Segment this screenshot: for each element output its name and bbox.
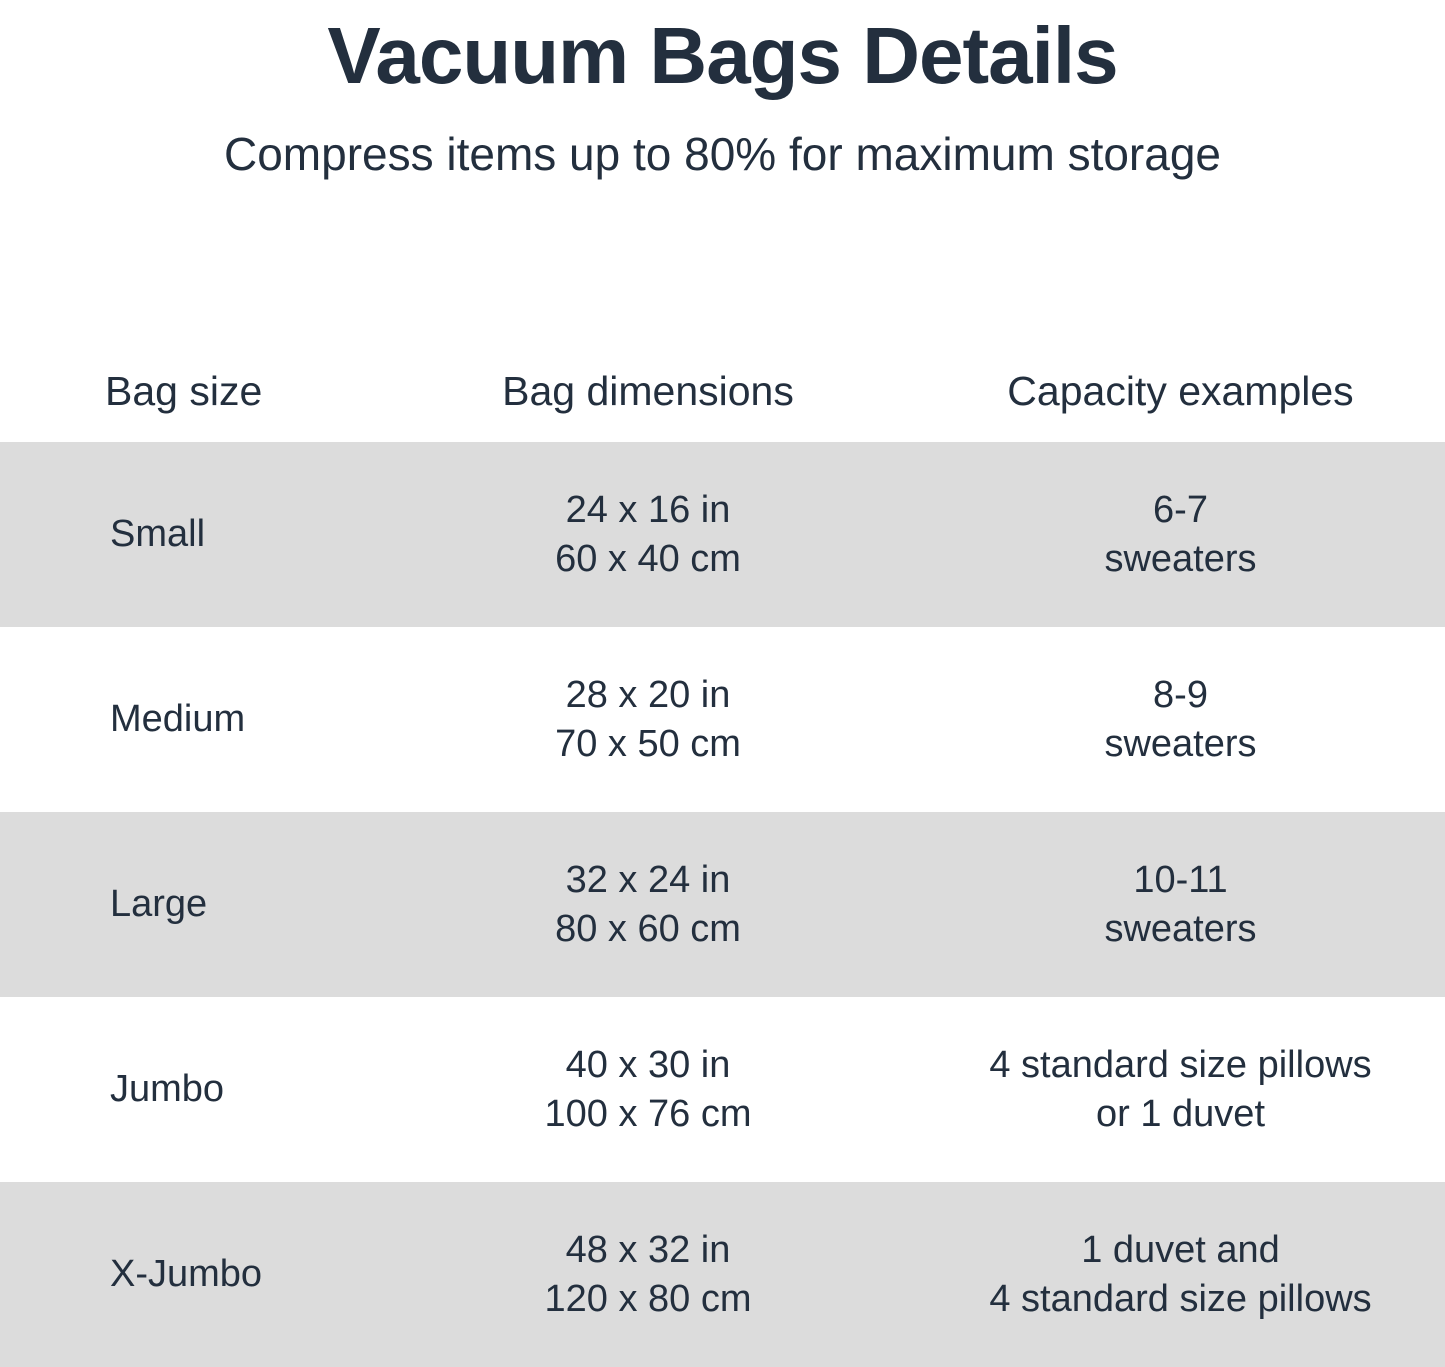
capacity-line-1: 10-11 — [916, 856, 1445, 905]
dimensions-centimeters: 100 x 76 cm — [380, 1090, 916, 1139]
cell-bag-size: Large — [0, 812, 380, 997]
cell-bag-dimensions: 28 x 20 in 70 x 50 cm — [380, 627, 916, 812]
cell-capacity-examples: 1 duvet and 4 standard size pillows — [916, 1182, 1445, 1367]
dimensions-inches: 48 x 32 in — [380, 1226, 916, 1275]
capacity-line-1: 6-7 — [916, 486, 1445, 535]
table-row: X-Jumbo 48 x 32 in 120 x 80 cm 1 duvet a… — [0, 1182, 1445, 1367]
cell-bag-dimensions: 32 x 24 in 80 x 60 cm — [380, 812, 916, 997]
capacity-line-2: sweaters — [916, 535, 1445, 584]
table-row: Medium 28 x 20 in 70 x 50 cm 8-9 sweater… — [0, 627, 1445, 812]
capacity-line-1: 1 duvet and — [916, 1226, 1445, 1275]
cell-bag-size: X-Jumbo — [0, 1182, 380, 1367]
cell-capacity-examples: 4 standard size pillows or 1 duvet — [916, 997, 1445, 1182]
column-header-bag-size: Bag size — [0, 340, 380, 442]
dimensions-inches: 40 x 30 in — [380, 1041, 916, 1090]
dimensions-inches: 24 x 16 in — [380, 486, 916, 535]
table-row: Jumbo 40 x 30 in 100 x 76 cm 4 standard … — [0, 997, 1445, 1182]
table-header-row: Bag size Bag dimensions Capacity example… — [0, 340, 1445, 442]
capacity-line-1: 4 standard size pillows — [916, 1041, 1445, 1090]
dimensions-centimeters: 120 x 80 cm — [380, 1275, 916, 1324]
cell-bag-size: Small — [0, 442, 380, 627]
dimensions-centimeters: 80 x 60 cm — [380, 905, 916, 954]
page-title: Vacuum Bags Details — [0, 8, 1445, 104]
column-header-capacity-examples: Capacity examples — [916, 340, 1445, 442]
capacity-line-2: sweaters — [916, 905, 1445, 954]
cell-bag-dimensions: 40 x 30 in 100 x 76 cm — [380, 997, 916, 1182]
cell-bag-size: Medium — [0, 627, 380, 812]
capacity-line-2: sweaters — [916, 720, 1445, 769]
cell-bag-size: Jumbo — [0, 997, 380, 1182]
dimensions-inches: 32 x 24 in — [380, 856, 916, 905]
table-body: Small 24 x 16 in 60 x 40 cm 6-7 sweaters… — [0, 442, 1445, 1367]
vacuum-bags-details-page: Vacuum Bags Details Compress items up to… — [0, 0, 1445, 1359]
capacity-line-2: 4 standard size pillows — [916, 1275, 1445, 1324]
cell-capacity-examples: 10-11 sweaters — [916, 812, 1445, 997]
table-header: Bag size Bag dimensions Capacity example… — [0, 340, 1445, 442]
page-subtitle: Compress items up to 80% for maximum sto… — [0, 104, 1445, 182]
cell-capacity-examples: 8-9 sweaters — [916, 627, 1445, 812]
dimensions-centimeters: 60 x 40 cm — [380, 535, 916, 584]
cell-bag-dimensions: 24 x 16 in 60 x 40 cm — [380, 442, 916, 627]
capacity-line-1: 8-9 — [916, 671, 1445, 720]
capacity-line-2: or 1 duvet — [916, 1090, 1445, 1139]
bag-specifications-table: Bag size Bag dimensions Capacity example… — [0, 340, 1445, 1367]
table-row: Small 24 x 16 in 60 x 40 cm 6-7 sweaters — [0, 442, 1445, 627]
column-header-bag-dimensions: Bag dimensions — [380, 340, 916, 442]
cell-capacity-examples: 6-7 sweaters — [916, 442, 1445, 627]
dimensions-centimeters: 70 x 50 cm — [380, 720, 916, 769]
table-row: Large 32 x 24 in 80 x 60 cm 10-11 sweate… — [0, 812, 1445, 997]
cell-bag-dimensions: 48 x 32 in 120 x 80 cm — [380, 1182, 916, 1367]
header-block: Vacuum Bags Details Compress items up to… — [0, 0, 1445, 182]
dimensions-inches: 28 x 20 in — [380, 671, 916, 720]
